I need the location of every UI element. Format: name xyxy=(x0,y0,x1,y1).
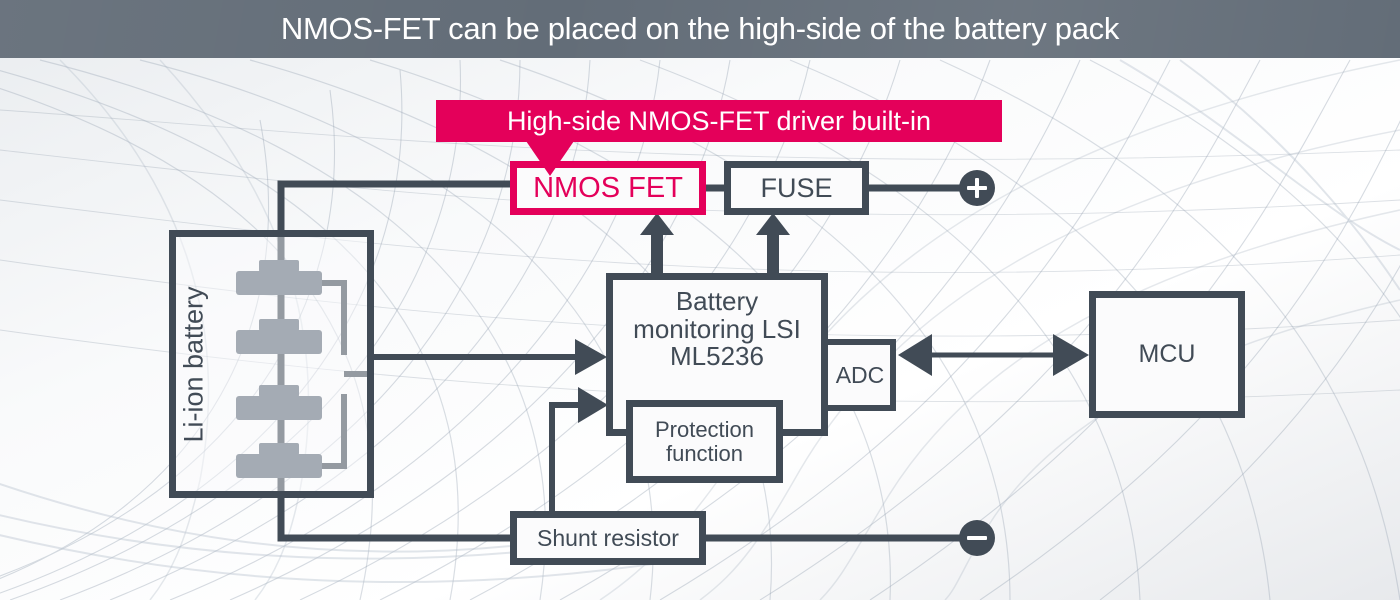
protection-label-line1: Protection xyxy=(655,418,754,441)
shunt-resistor-label: Shunt resistor xyxy=(537,526,679,550)
mcu-label: MCU xyxy=(1139,341,1196,368)
page-title: NMOS-FET can be placed on the high-side … xyxy=(0,0,1400,58)
shunt-resistor-block[interactable]: Shunt resistor xyxy=(510,511,706,565)
fuse-block[interactable]: FUSE xyxy=(724,161,869,215)
fuse-label: FUSE xyxy=(760,174,832,203)
plus-icon-vertical-bar xyxy=(975,178,979,198)
minus-icon-horizontal-bar xyxy=(967,536,987,540)
protection-label-line2: function xyxy=(655,442,754,465)
lsi-label-line2: monitoring LSI xyxy=(633,316,801,344)
callout-label: High-side NMOS-FET driver built-in xyxy=(507,106,931,137)
mcu-block[interactable]: MCU xyxy=(1089,291,1245,418)
protection-function-block[interactable]: Protection function xyxy=(626,400,783,483)
nmos-fet-label: NMOS FET xyxy=(533,173,683,204)
plus-terminal-icon xyxy=(959,170,995,206)
callout-pointer-icon xyxy=(526,141,574,176)
callout-banner: High-side NMOS-FET driver built-in xyxy=(436,100,1002,142)
lsi-label-line1: Battery xyxy=(633,288,801,316)
battery-pack-block[interactable] xyxy=(169,230,374,498)
minus-terminal-icon xyxy=(959,520,995,556)
protection-label-group: Protection function xyxy=(655,418,754,465)
lsi-label-group: Battery monitoring LSI ML5236 xyxy=(633,288,801,371)
diagram-canvas: NMOS-FET can be placed on the high-side … xyxy=(0,0,1400,600)
lsi-label-line3: ML5236 xyxy=(633,343,801,371)
